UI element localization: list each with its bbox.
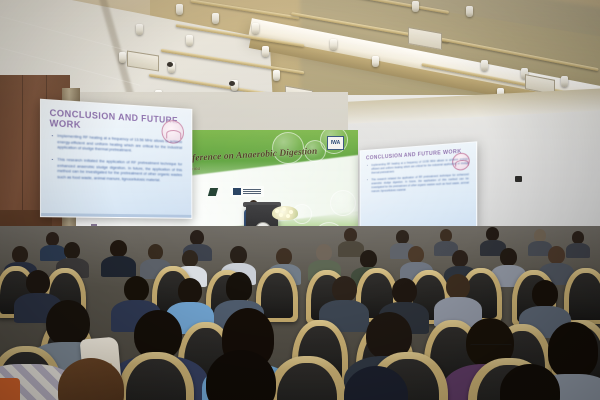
audience-seating-area [0, 226, 600, 400]
ceiling-spotlight-icon [330, 39, 337, 50]
slide-bullet-text: This research initiated the application … [371, 173, 468, 193]
ceiling-spotlight-icon [273, 70, 280, 81]
slide-bullet-text: Implementing RF heating at a frequency o… [371, 158, 468, 175]
floral-arrangement [272, 206, 298, 220]
slide-bullet-text: This research initiated the application … [57, 157, 182, 184]
ceiling-speaker-icon [167, 62, 173, 67]
ceiling-speaker-icon [229, 81, 235, 86]
backdrop-bubble [330, 190, 356, 216]
slide-bullet: • This research initiated the applicatio… [367, 173, 469, 193]
projection-screen-right: CONCLUSION AND FUTURE WORK • Implementin… [360, 141, 478, 233]
ceiling-spotlight-icon [186, 35, 193, 46]
iwa-logo-badge: IWA [327, 136, 344, 150]
ceiling-spotlight-icon [262, 46, 269, 57]
ceiling-spotlight-icon [412, 1, 419, 12]
ceiling-spotlight-icon [561, 76, 568, 87]
ceiling-spotlight-icon [119, 52, 126, 63]
bullet-marker: • [52, 133, 53, 151]
conference-hall-photo: IWA The 15th IWA World Conference on Ana… [0, 0, 600, 400]
iwa-logo-text: IWA [331, 140, 340, 146]
ceiling-spotlight-icon [466, 6, 473, 17]
sponsor-logo-3 [204, 186, 222, 197]
bullet-marker: • [52, 156, 53, 179]
ceiling-spotlight-icon [372, 56, 379, 67]
ceiling-spotlight-icon [212, 13, 219, 24]
ceiling-spotlight-icon [176, 4, 183, 15]
sponsor-logo-4 [230, 186, 264, 197]
ceiling-spotlight-icon [481, 60, 488, 71]
ceiling-spotlight-icon [252, 23, 259, 34]
bullet-marker: • [367, 179, 368, 194]
projection-screen-left: CONCLUSION AND FUTURE WORK • Implementin… [40, 99, 192, 219]
bullet-marker: • [367, 164, 368, 175]
slide-bullet: • This research initiated the applicatio… [52, 156, 183, 183]
eyeglasses-icon [470, 344, 512, 351]
wall-speaker-icon [515, 176, 522, 182]
ceiling-spotlight-icon [136, 24, 143, 35]
slide-footer-bar [41, 213, 191, 218]
